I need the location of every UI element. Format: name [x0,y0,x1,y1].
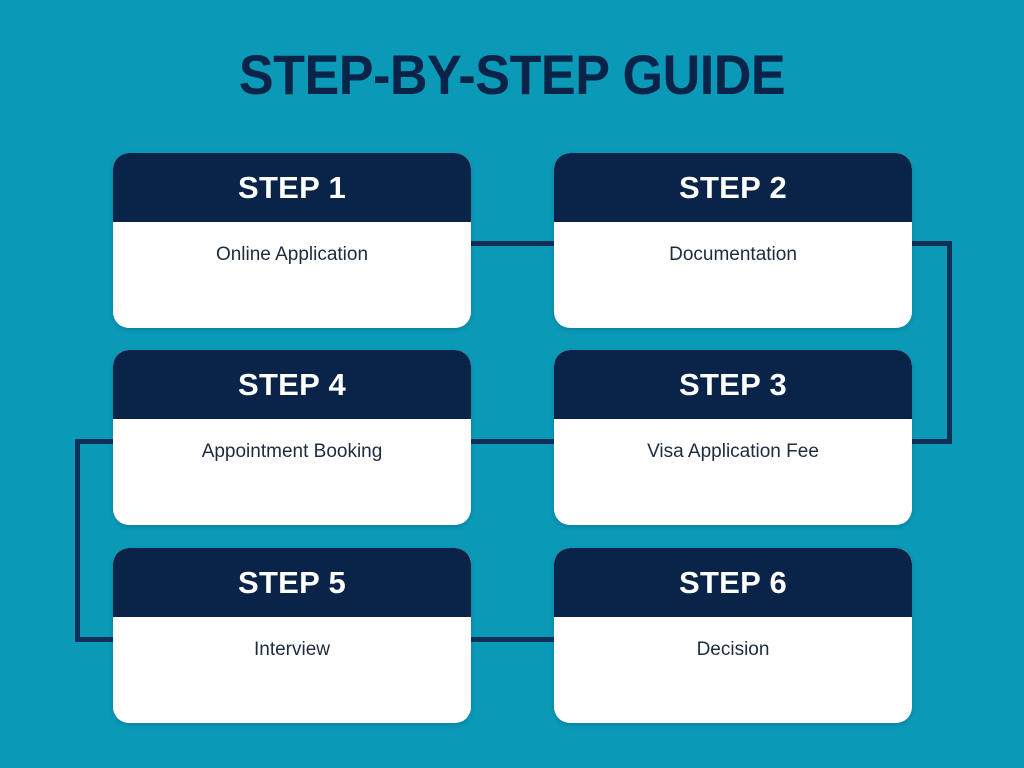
step-card-1-header-label: STEP 1 [238,170,346,206]
step-card-3[interactable]: STEP 3 Visa Application Fee [554,350,912,525]
step-card-2-body: Documentation [554,222,912,328]
connector-step4-to-step5-vertical [75,439,80,642]
step-card-3-label: Visa Application Fee [633,440,833,464]
step-card-5-header-label: STEP 5 [238,565,346,601]
connector-step2-to-step3-vertical [947,241,952,444]
step-card-6[interactable]: STEP 6 Decision [554,548,912,723]
step-card-2-label: Documentation [655,243,811,267]
step-card-4-label: Appointment Booking [188,440,397,464]
infographic-canvas: STEP-BY-STEP GUIDE STEP 1 Online Applica… [0,0,1024,768]
step-card-2[interactable]: STEP 2 Documentation [554,153,912,328]
step-card-2-header: STEP 2 [554,153,912,222]
step-card-3-header-label: STEP 3 [679,367,787,403]
connector-step5-enter-left [75,637,118,642]
step-card-6-label: Decision [683,638,784,662]
step-card-6-body: Decision [554,617,912,723]
connector-step4-exit-left [75,439,118,444]
step-card-1-label: Online Application [202,243,382,267]
connector-step3-to-step4 [468,439,557,444]
step-card-1[interactable]: STEP 1 Online Application [113,153,471,328]
step-card-2-header-label: STEP 2 [679,170,787,206]
step-card-3-header: STEP 3 [554,350,912,419]
step-card-5-body: Interview [113,617,471,723]
step-card-1-body: Online Application [113,222,471,328]
connector-step3-enter-right [909,439,952,444]
step-card-5-header: STEP 5 [113,548,471,617]
step-card-5[interactable]: STEP 5 Interview [113,548,471,723]
step-card-3-body: Visa Application Fee [554,419,912,525]
step-card-6-header: STEP 6 [554,548,912,617]
connector-step5-to-step6 [468,637,557,642]
connector-step2-exit-right [909,241,952,246]
step-card-4-header-label: STEP 4 [238,367,346,403]
step-card-4[interactable]: STEP 4 Appointment Booking [113,350,471,525]
step-card-5-label: Interview [240,638,344,662]
step-card-1-header: STEP 1 [113,153,471,222]
step-card-4-header: STEP 4 [113,350,471,419]
step-card-6-header-label: STEP 6 [679,565,787,601]
step-card-4-body: Appointment Booking [113,419,471,525]
connector-step1-to-step2 [468,241,557,246]
